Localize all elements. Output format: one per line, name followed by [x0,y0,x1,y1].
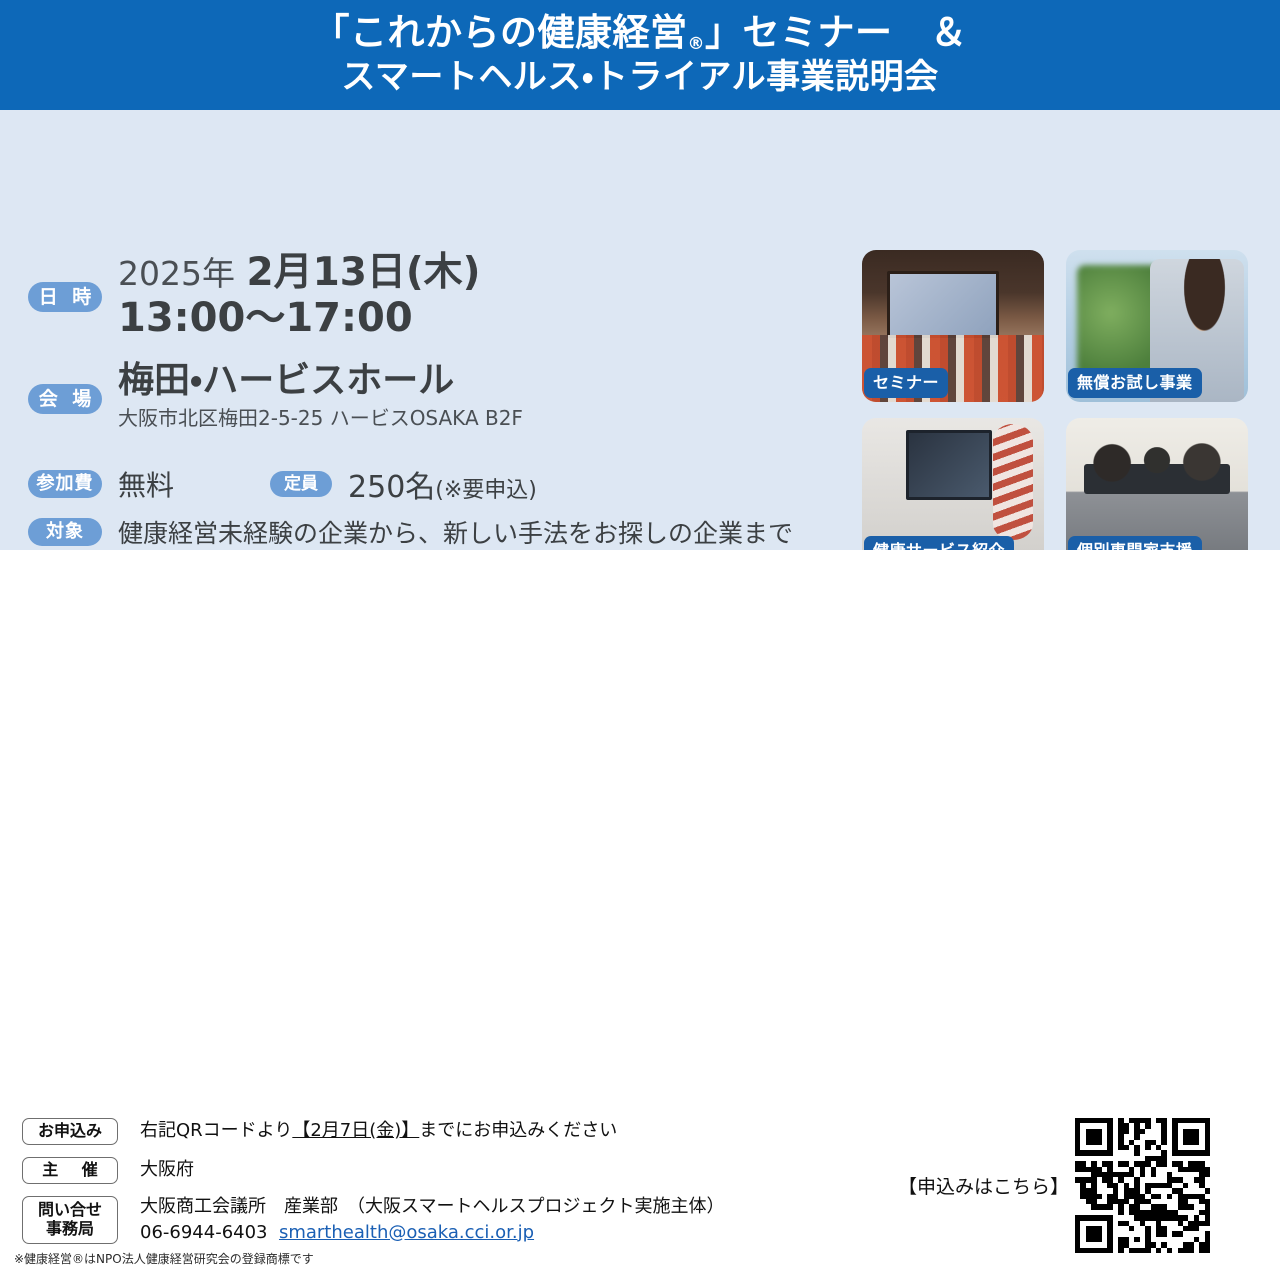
datetime-value: 2025年 2月13日(木) 13:00〜17:00 [118,250,481,341]
event-flyer: 「これからの健康経営®」セミナー ＆ スマートヘルス・トライアル事業説明会 日 … [0,0,1280,720]
target-value: 健康経営未経験の企業から、新しい手法をお探しの企業まで [118,514,793,550]
capacity-number: 250名 [348,470,435,505]
apply-text-post: までにお申込みください [419,1120,617,1141]
info-row-datetime: 日 時 2025年 2月13日(木) 13:00〜17:00 [28,250,481,341]
info-row-fee-capacity: 参加費 無料 定員 250名(※要申込) [28,462,537,506]
footer-row-contact: 問い合せ 事務局 大阪商工会議所 産業部 （大阪スマートヘルスプロジェクト実施主… [22,1196,724,1245]
label-fee: 参加費 [28,470,102,498]
label-target: 対象 [28,518,102,546]
capacity-note: (※要申込) [435,478,537,503]
datetime-time: 13:00〜17:00 [118,296,481,341]
label-apply: お申込み [22,1118,118,1145]
footer-row-apply: お申込み 右記QRコードより【2月7日(金)】までにお申込みください [22,1118,617,1145]
flyer-body: 日 時 2025年 2月13日(木) 13:00〜17:00 会 場 梅田・ハー… [0,110,1280,550]
flyer-header: 「これからの健康経営®」セミナー ＆ スマートヘルス・トライアル事業説明会 [0,0,1280,110]
label-contact-line2: 事務局 [46,1220,94,1239]
qr-code-label: 【申込みはこちら】 [898,1172,1069,1199]
label-contact-line1: 問い合せ [38,1201,102,1220]
flyer-footer: お申込み 右記QRコードより【2月7日(金)】までにお申込みください 主 催 大… [0,550,1280,720]
label-datetime: 日 時 [28,282,102,312]
label-contact: 問い合せ 事務局 [22,1196,118,1244]
apply-text-pre: 右記QRコードより [140,1120,292,1141]
header-title-line2: スマートヘルス・トライアル事業説明会 [341,59,938,96]
photo-card-seminar: セミナー [862,250,1044,402]
venue-name: 梅田・ハービスホール [118,360,523,401]
trademark-disclaimer: ※健康経営®はNPO法人健康経営研究会の登録商標です [14,1250,314,1267]
contact-phone[interactable]: 06-6944-6403 [140,1222,268,1243]
header-title-part2: 」セミナー ＆ [705,13,968,53]
host-value: 大阪府 [140,1157,194,1183]
photo-caption-free-trial: 無償お試し事業 [1068,368,1202,398]
info-row-target: 対象 健康経営未経験の企業から、新しい手法をお探しの企業まで [28,514,793,550]
contact-email-link[interactable]: smarthealth@osaka.cci.or.jp [279,1222,534,1243]
datetime-date-line: 2025年 2月13日(木) [118,250,481,296]
fee-value: 無料 [118,464,174,504]
photo-card-expert-support: 個別専門家支援 [1066,418,1248,570]
datetime-month-day: 2月13日(木) [246,250,480,295]
label-capacity: 定員 [270,471,332,497]
header-title-line1: 「これからの健康経営®」セミナー ＆ [313,13,968,53]
header-title-part1: 「これからの健康経営 [313,13,688,53]
application-qr-code[interactable] [1075,1118,1210,1253]
contact-org: 大阪商工会議所 産業部 （大阪スマートヘルスプロジェクト実施主体） [140,1194,724,1220]
label-host: 主 催 [22,1157,118,1184]
info-row-venue: 会 場 梅田・ハービスホール 大阪市北区梅田2-5-25 ハービスOSAKA B… [28,360,523,431]
venue-address: 大阪市北区梅田2-5-25 ハービスOSAKA B2F [118,405,523,431]
footer-row-host: 主 催 大阪府 [22,1157,194,1184]
capacity-group: 定員 250名(※要申込) [270,462,537,506]
contact-details: 大阪商工会議所 産業部 （大阪スマートヘルスプロジェクト実施主体） 06-694… [140,1194,724,1245]
apply-deadline: 【2月7日(金)】 [292,1120,419,1141]
photo-caption-seminar: セミナー [864,368,948,398]
photo-card-health-service: 健康サービス紹介 [862,418,1044,570]
label-venue: 会 場 [28,384,102,414]
apply-instructions: 右記QRコードより【2月7日(金)】までにお申込みください [140,1118,617,1144]
datetime-year: 2025年 [118,254,235,293]
contact-line2: 06-6944-6403 smarthealth@osaka.cci.or.jp [140,1220,724,1246]
capacity-value: 250名(※要申込) [348,462,537,506]
event-info-list: 日 時 2025年 2月13日(木) 13:00〜17:00 会 場 梅田・ハー… [0,110,860,550]
registered-mark-icon: ® [688,35,706,53]
venue-value: 梅田・ハービスホール 大阪市北区梅田2-5-25 ハービスOSAKA B2F [118,360,523,431]
photo-card-free-trial: 無償お試し事業 [1066,250,1248,402]
